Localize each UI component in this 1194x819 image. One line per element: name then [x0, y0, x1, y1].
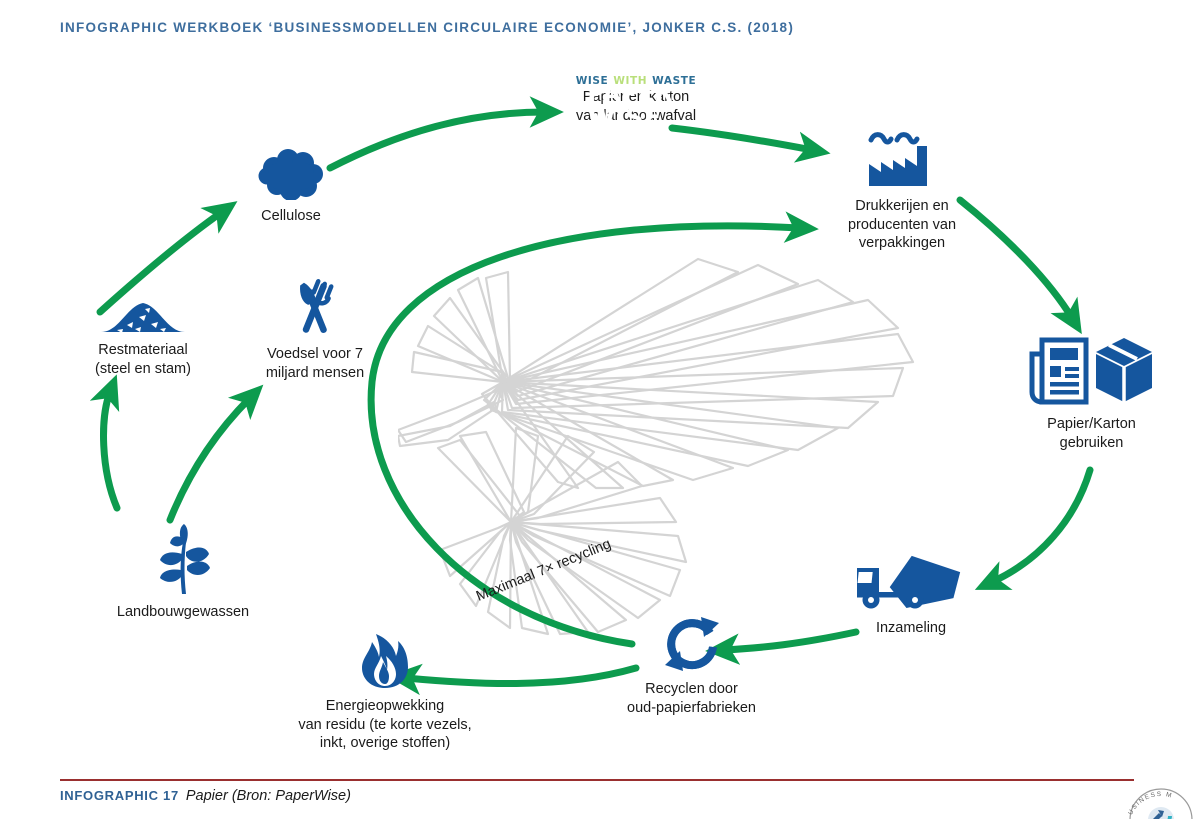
business-models-circle-logo: USINESS M — [1128, 786, 1194, 819]
factory-icon — [867, 128, 937, 190]
node-voedsel-caption: Voedsel voor 7 miljard mensen — [266, 345, 364, 382]
footer-divider — [60, 779, 1134, 781]
footer-label: INFOGRAPHIC 17 — [60, 788, 179, 803]
node-papier-karton-gebruiken: Papier/Karton gebruiken — [1004, 336, 1179, 452]
plant-leaves-icon — [147, 524, 219, 596]
node-cellulose-caption: Cellulose — [261, 207, 321, 226]
cellulose-cloud-icon — [258, 148, 324, 200]
garbage-truck-icon — [853, 550, 969, 612]
page-title: INFOGRAPHIC WERKBOEK ‘BUSINESSMODELLEN C… — [60, 20, 794, 35]
node-restmateriaal-caption: Restmateriaal (steel en stam) — [95, 341, 191, 378]
fork-knife-icon — [284, 278, 346, 338]
node-energieopwekking: Energieopwekking van residu (te korte ve… — [280, 632, 490, 753]
node-drukkerijen: Drukkerijen en producenten van verpakkin… — [812, 128, 992, 253]
recycle-arrows-icon — [661, 615, 723, 673]
newspaper-box-icon — [1028, 336, 1156, 408]
footer-caption: Papier (Bron: PaperWise) — [186, 788, 351, 804]
node-voedsel: Voedsel voor 7 miljard mensen — [240, 278, 390, 382]
material-pile-icon — [99, 300, 187, 334]
node-inzameling: Inzameling — [836, 550, 986, 638]
node-recyclen-caption: Recyclen door oud-papierfabrieken — [627, 680, 756, 717]
node-inzameling-caption: Inzameling — [876, 619, 946, 638]
node-papier-karton-gebruiken-caption: Papier/Karton gebruiken — [1047, 415, 1136, 452]
node-energieopwekking-caption: Energieopwekking van residu (te korte ve… — [298, 697, 471, 753]
footer: INFOGRAPHIC 17 Papier (Bron: PaperWise) — [60, 788, 351, 804]
node-cellulose: Cellulose — [226, 148, 356, 226]
node-restmateriaal: Restmateriaal (steel en stam) — [68, 300, 218, 378]
recycling-loop-label: Maximaal 7× recycling — [474, 536, 613, 605]
node-paperwise: PAPER WISE WISE WITH WASTE Papier en kar… — [531, 78, 741, 125]
flame-icon — [354, 632, 416, 690]
infographic-page: INFOGRAPHIC WERKBOEK ‘BUSINESSMODELLEN C… — [0, 0, 1194, 819]
node-drukkerijen-caption: Drukkerijen en producenten van verpakkin… — [848, 197, 956, 253]
node-landbouwgewassen-caption: Landbouwgewassen — [117, 603, 249, 622]
paperwise-logo: PAPER WISE WISE WITH WASTE — [588, 78, 685, 81]
node-recyclen: Recyclen door oud-papierfabrieken — [594, 615, 789, 717]
node-landbouwgewassen: Landbouwgewassen — [88, 524, 278, 622]
